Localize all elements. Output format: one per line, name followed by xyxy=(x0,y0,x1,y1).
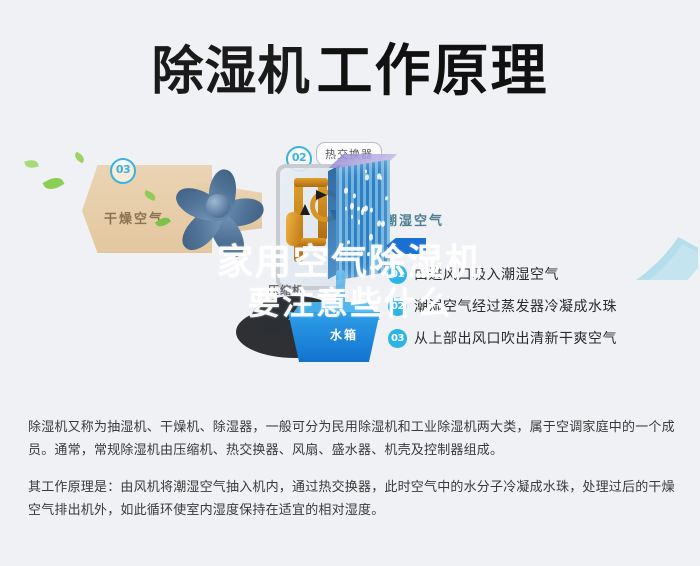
water-droplet-icon xyxy=(381,221,384,227)
water-droplet-icon xyxy=(353,194,356,199)
water-droplet-icon xyxy=(350,202,354,209)
water-droplet-icon xyxy=(345,207,347,211)
fan-icon xyxy=(168,156,276,260)
page-title: 除湿机工作原理 xyxy=(0,26,700,107)
water-droplet-icon xyxy=(370,266,372,270)
water-droplet-icon xyxy=(376,264,380,271)
list-item: 01 由进风口吸入潮湿空气 xyxy=(388,258,688,290)
flow-arrow-right-icon xyxy=(316,190,327,200)
water-droplet-icon xyxy=(347,240,350,245)
step-badge: 02 xyxy=(388,297,407,316)
water-droplet-icon xyxy=(351,215,354,220)
step-badge: 01 xyxy=(388,265,407,284)
water-droplet-icon xyxy=(365,174,368,180)
water-droplet-icon xyxy=(385,196,387,200)
step-text: 由进风口吸入潮湿空气 xyxy=(414,264,559,284)
water-droplet-icon xyxy=(360,251,363,256)
leaf-icon xyxy=(43,174,65,193)
water-droplet-icon xyxy=(380,176,382,180)
leaf-icon xyxy=(24,159,38,170)
humid-air-label: 潮湿空气 xyxy=(384,210,444,229)
diagram-badge-03: 03 xyxy=(110,158,136,184)
water-droplet-icon xyxy=(377,220,381,227)
water-droplet-icon xyxy=(365,170,367,174)
dry-air-label: 干燥空气 xyxy=(104,208,164,227)
water-droplet-icon xyxy=(370,207,373,213)
water-droplet-icon xyxy=(367,252,369,257)
process-steps-list: 01 由进风口吸入潮湿空气 02 潮湿空气经过蒸发器冷凝成水珠 03 从上部出风… xyxy=(388,258,688,354)
water-droplet-icon xyxy=(374,255,377,261)
copper-pipe xyxy=(294,178,328,187)
heat-exchanger-fins xyxy=(336,160,390,281)
compressor-label: 压缩机 xyxy=(268,282,304,298)
list-item: 02 潮湿空气经过蒸发器冷凝成水珠 xyxy=(388,290,688,322)
air-intake-arrow xyxy=(386,238,426,254)
step-text: 从上部出风口吹出清新干爽空气 xyxy=(414,328,617,348)
infographic-page: 除湿机工作原理 干燥空气 潮湿空气 03 02 01 热交换器 xyxy=(0,0,700,566)
water-droplet-icon xyxy=(357,207,359,211)
page-title-part-a: 除湿机 xyxy=(151,42,310,102)
water-droplet-icon xyxy=(358,220,361,225)
water-droplet-icon xyxy=(369,234,373,241)
leaf-icon xyxy=(73,152,86,164)
water-tank-label: 水箱 xyxy=(330,326,358,343)
water-droplet-icon xyxy=(378,247,381,253)
step-badge: 03 xyxy=(388,329,407,348)
water-droplet-icon xyxy=(364,205,368,212)
step-text: 潮湿空气经过蒸发器冷凝成水珠 xyxy=(414,296,617,316)
paragraph-2: 其工作原理是：由风机将潮湿空气抽入机内，通过热交换器，此时空气中的水分子冷凝成水… xyxy=(28,476,676,522)
flow-arrow-up-icon xyxy=(300,204,310,215)
copper-pipe xyxy=(300,238,326,246)
compressor-cylinder xyxy=(286,212,301,246)
body-copy: 除湿机又称为抽湿机、干燥机、除湿器，一般可分为民用除湿机和工业除湿机两大类，属于… xyxy=(28,416,676,536)
water-droplet-icon xyxy=(344,187,347,193)
list-item: 03 从上部出风口吹出清新干爽空气 xyxy=(388,322,688,354)
page-title-part-b: 工作原理 xyxy=(317,39,549,104)
paragraph-1: 除湿机又称为抽湿机、干燥机、除湿器，一般可分为民用除湿机和工业除湿机两大类，属于… xyxy=(28,416,676,462)
